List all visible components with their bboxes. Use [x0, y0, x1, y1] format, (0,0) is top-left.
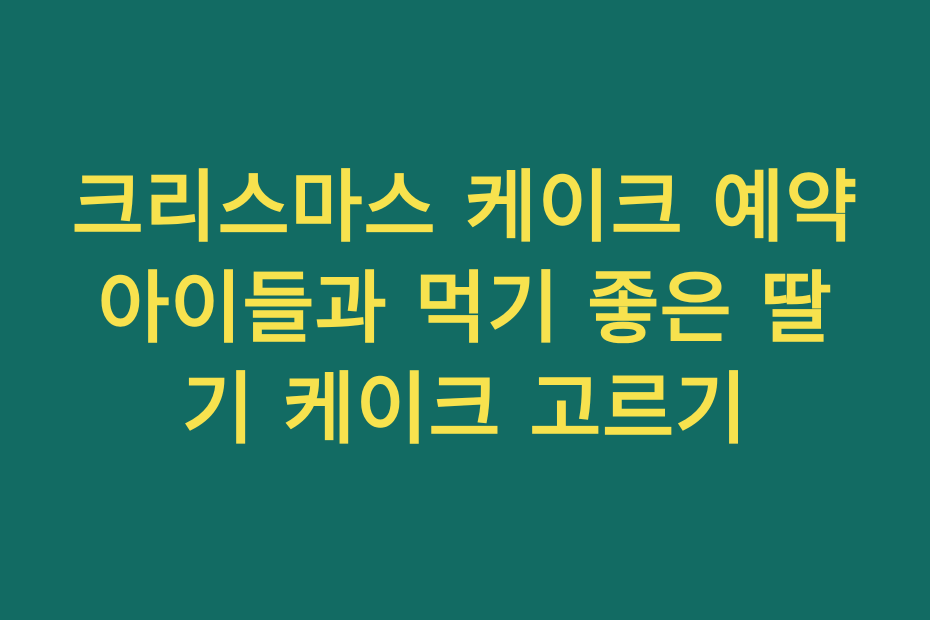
title-line-3: 기 케이크 고르기 [70, 360, 860, 461]
title-block: 크리스마스 케이크 예약 아이들과 먹기 좋은 딸 기 케이크 고르기 [70, 158, 860, 461]
thumbnail-card: 크리스마스 케이크 예약 아이들과 먹기 좋은 딸 기 케이크 고르기 [0, 0, 930, 620]
title-line-1: 크리스마스 케이크 예약 [70, 158, 860, 259]
title-line-2: 아이들과 먹기 좋은 딸 [70, 259, 860, 360]
